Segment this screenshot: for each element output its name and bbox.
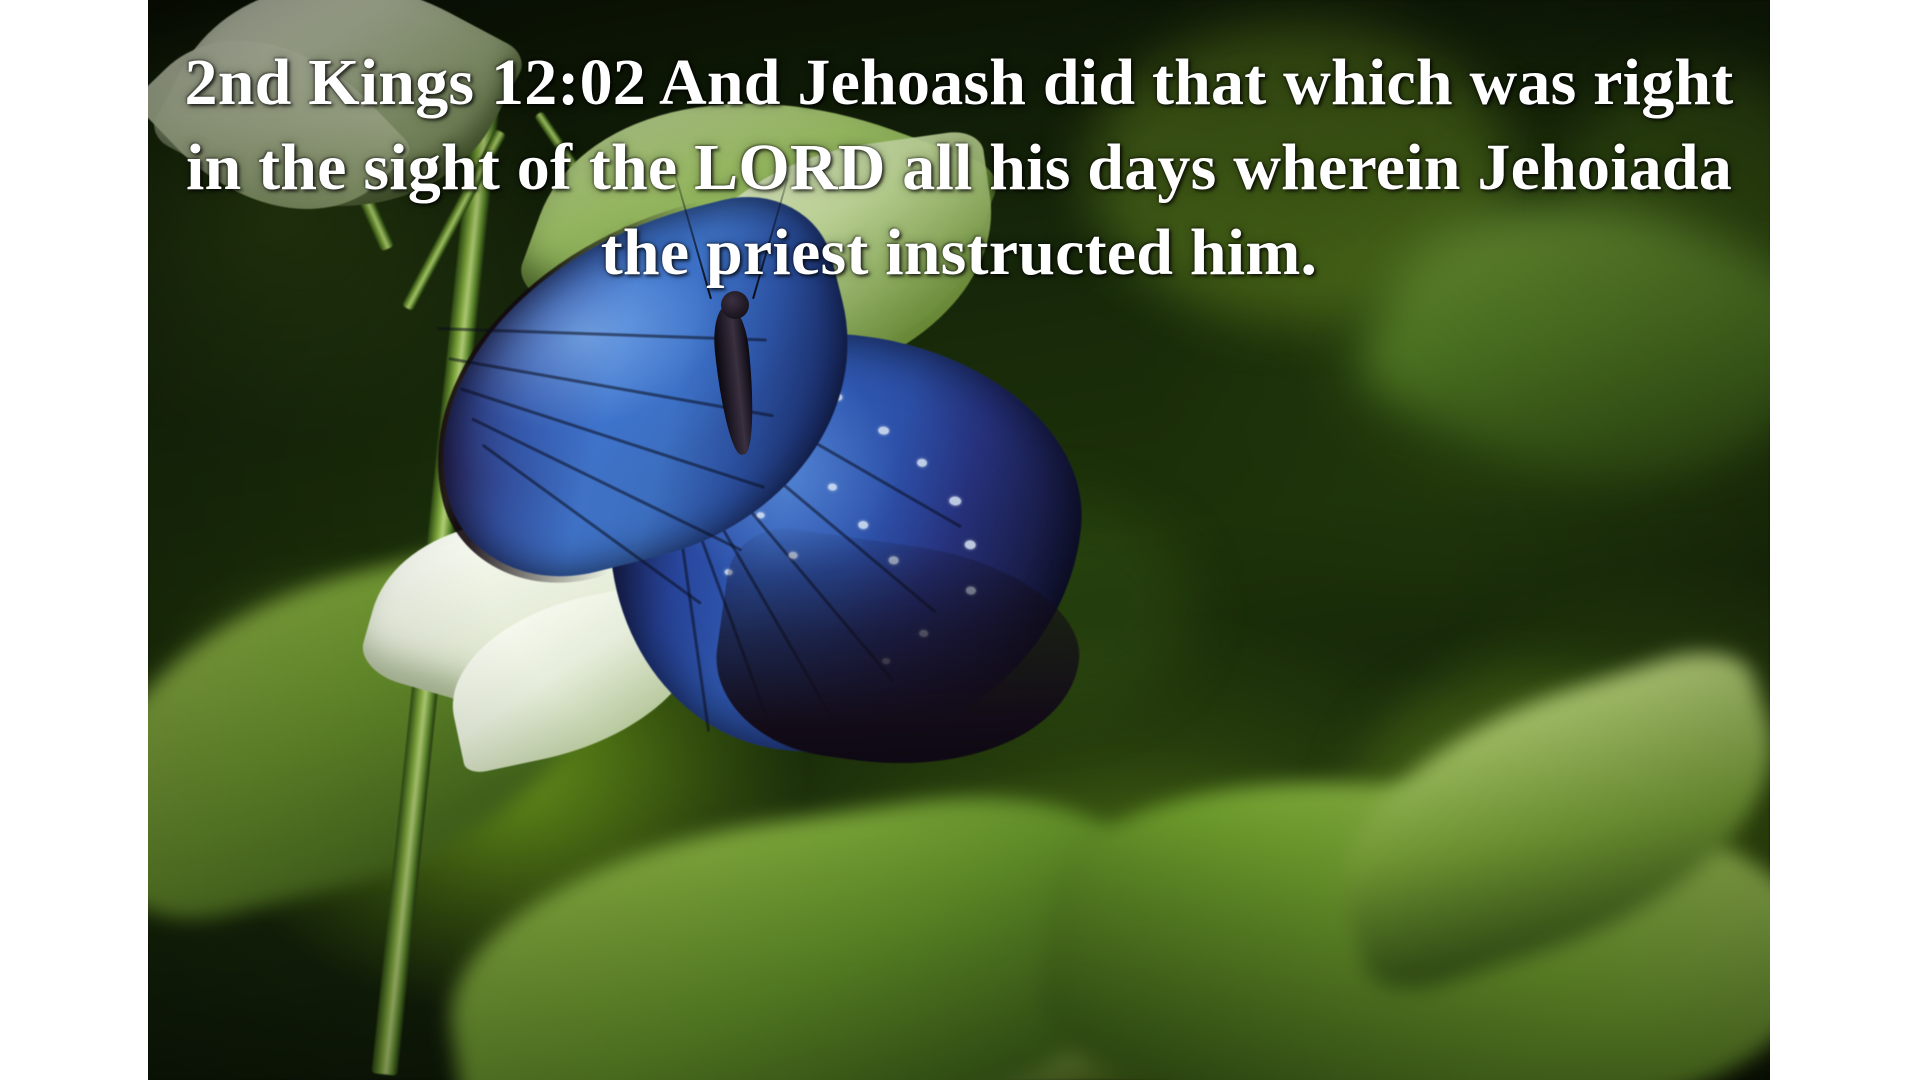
background-photograph	[148, 0, 1770, 1080]
wing-speckle	[756, 512, 765, 519]
butterfly-head	[721, 291, 749, 319]
butterfly	[418, 215, 1218, 755]
wing-speckle	[949, 496, 962, 506]
wing-vein	[460, 387, 765, 489]
wing-speckle	[878, 426, 890, 435]
wing-speckle	[858, 521, 869, 530]
wing-speckle	[964, 540, 976, 550]
wing-speckle	[828, 483, 838, 491]
slide-canvas: 2nd Kings 12:02 And Jehoash did that whi…	[0, 0, 1920, 1080]
wing-vein	[482, 444, 702, 605]
wing-speckle	[917, 458, 928, 467]
